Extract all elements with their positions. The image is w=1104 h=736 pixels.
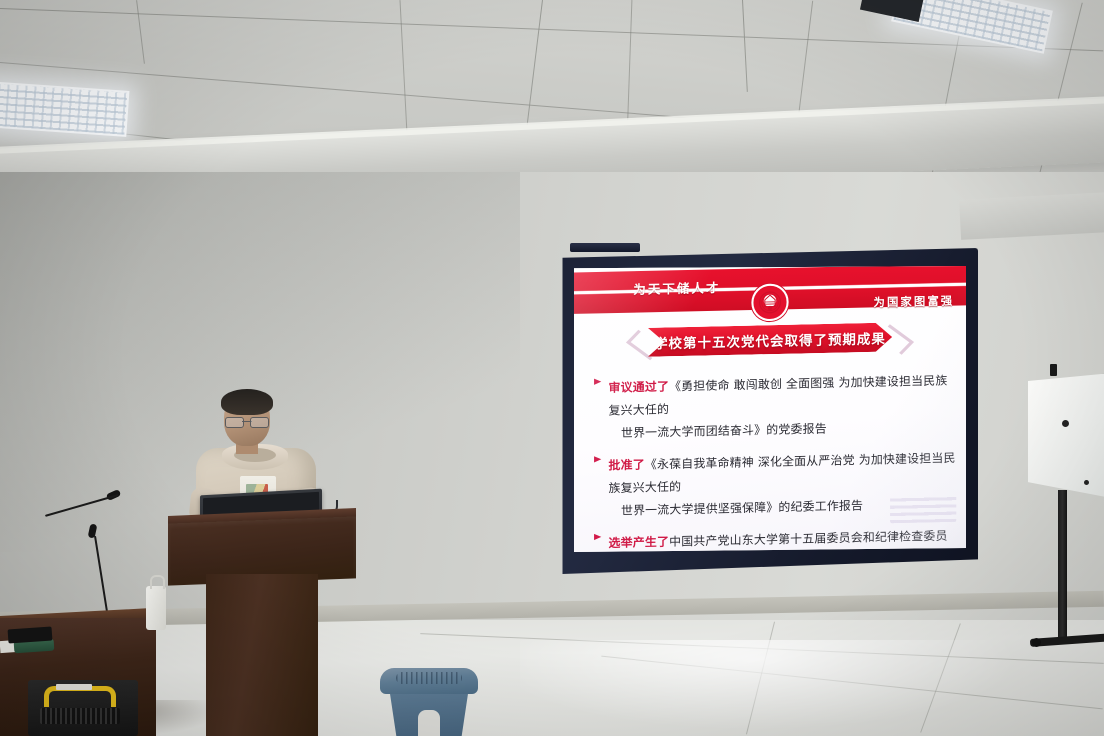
slide-bullet-item: 选举产生了中国共产党山东大学第十五届委员会和纪律检查委员会 bbox=[594, 524, 958, 552]
bullet-highlight: 批准了 bbox=[609, 457, 645, 472]
bullet-line-1: 《永葆自我革命精神 深化全面从严治党 为加快建设担当民族复兴大任的 bbox=[609, 450, 956, 495]
stool-seat-vents bbox=[396, 672, 462, 684]
wall-display[interactable]: 为天下储人才 为国家图富强 学校第十五次党代会取得了预期成果 bbox=[560, 248, 978, 574]
display-top-cap bbox=[570, 243, 640, 252]
mobile-whiteboard bbox=[1022, 372, 1104, 662]
bullet-highlight: 审议通过了 bbox=[609, 379, 670, 395]
slide-motto-right: 为国家图富强 bbox=[874, 292, 955, 310]
stool-leg-gap bbox=[418, 710, 440, 736]
slide-title: 学校第十五次党代会取得了预期成果 bbox=[648, 323, 892, 357]
presentation-slide: 为天下储人才 为国家图富强 学校第十五次党代会取得了预期成果 bbox=[574, 266, 966, 552]
amplifier-label bbox=[56, 684, 92, 690]
bullet-arrow-icon bbox=[594, 456, 601, 462]
bullet-arrow-icon bbox=[594, 379, 601, 385]
display-screen[interactable]: 为天下储人才 为国家图富强 学校第十五次党代会取得了预期成果 bbox=[574, 266, 966, 552]
floor-light-reflection bbox=[520, 640, 1040, 736]
sanitizer-pump-icon[interactable] bbox=[150, 575, 165, 589]
slide-title-row: 学校第十五次党代会取得了预期成果 bbox=[574, 321, 966, 361]
bullet-line-2: 世界一流大学而团结奋斗》的党委报告 bbox=[609, 414, 959, 444]
hand-sanitizer-bottle[interactable] bbox=[146, 586, 166, 630]
slide-bullet-item: 审议通过了《勇担使命 敢闯敢创 全面图强 为加快建设担当民族复兴大任的 世界一流… bbox=[594, 369, 958, 445]
blue-plastic-stool bbox=[380, 668, 478, 736]
shandong-university-emblem-icon bbox=[751, 283, 788, 321]
podium-column bbox=[206, 574, 318, 736]
whiteboard-post bbox=[1058, 490, 1067, 642]
whiteboard-knob[interactable] bbox=[1062, 420, 1069, 427]
bullet-highlight: 选举产生了 bbox=[609, 534, 670, 550]
presenter-hair bbox=[221, 389, 273, 415]
slide-watermark bbox=[890, 495, 956, 523]
whiteboard-caster bbox=[1032, 638, 1041, 647]
whiteboard-clip bbox=[1050, 364, 1057, 376]
gooseneck-mic-right[interactable] bbox=[110, 488, 200, 528]
lecture-hall-scene: 为天下储人才 为国家图富强 学校第十五次党代会取得了预期成果 bbox=[0, 0, 1104, 736]
bullet-arrow-icon bbox=[594, 534, 601, 540]
wall-ledge-right bbox=[959, 192, 1104, 240]
slide-bullet-list: 审议通过了《勇担使命 敢闯敢创 全面图强 为加快建设担当民族复兴大任的 世界一流… bbox=[594, 369, 958, 552]
whiteboard-knob[interactable] bbox=[1084, 480, 1089, 485]
whiteboard-panel[interactable] bbox=[1022, 372, 1104, 500]
amplifier-speaker-grill bbox=[40, 708, 120, 724]
slide-motto-left: 为天下储人才 bbox=[633, 279, 720, 298]
ceiling-light-panel bbox=[0, 81, 129, 137]
presenter-glasses-icon bbox=[225, 417, 269, 426]
